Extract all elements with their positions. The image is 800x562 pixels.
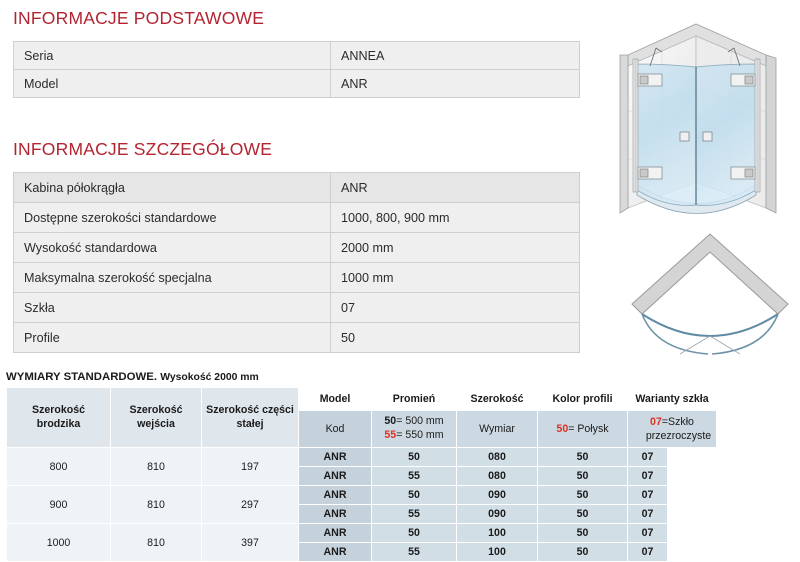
shower-enclosure-3d-icon xyxy=(604,12,794,224)
dim-szerokosc-value: 080 xyxy=(457,448,538,467)
details-row-value: 50 xyxy=(331,323,580,353)
details-row-label: Dostępne szerokości standardowe xyxy=(14,203,331,233)
dim-szklo-value: 07 xyxy=(628,543,668,562)
dim-header-wejscie-l2: wejścia xyxy=(137,418,175,430)
dim-wejscie-value: 810 xyxy=(111,448,202,486)
dim-model-value: ANR xyxy=(299,486,372,505)
plan-walls xyxy=(632,234,788,314)
dim-header-szerokosc: Szerokość xyxy=(457,388,538,411)
basic-row-value: ANR xyxy=(331,70,580,98)
dim-header-stala: Szerokość części stałej xyxy=(202,388,299,448)
dim-code-kolor-code: 50 xyxy=(556,423,568,435)
dim-stala-value: 197 xyxy=(202,448,299,486)
dim-model-value: ANR xyxy=(299,467,372,486)
dim-promien-value: 50 xyxy=(372,524,457,543)
dim-header-brodzik-l1: Szerokość xyxy=(32,404,85,416)
dim-code-glass-code: 07 xyxy=(650,416,662,428)
details-row-label: Profile xyxy=(14,323,331,353)
table-row: Model ANR xyxy=(14,70,580,98)
dim-szerokosc-value: 090 xyxy=(457,486,538,505)
dim-code-kolor-text: = Połysk xyxy=(568,423,608,435)
dim-kolor-value: 50 xyxy=(538,448,628,467)
dim-promien-value: 55 xyxy=(372,505,457,524)
dimensions-caption-bold: WYMIARY STANDARDOWE. xyxy=(6,371,157,383)
basic-info-table: Seria ANNEA Model ANR xyxy=(13,41,580,98)
product-spec-sheet: INFORMACJE PODSTAWOWE Seria ANNEA Model … xyxy=(0,0,800,558)
standard-dimensions-table-wrapper: Szerokość brodzika Szerokość wejścia Sze… xyxy=(6,387,716,562)
details-row-label: Wysokość standardowa xyxy=(14,233,331,263)
dim-header-stala-l1: Szerokość części xyxy=(206,404,294,416)
dim-code-glass-line1: 07=Szkło xyxy=(650,416,694,428)
table-row: Wysokość standardowa 2000 mm xyxy=(14,233,580,263)
dim-spacer-cell xyxy=(668,524,717,543)
dim-model-value: ANR xyxy=(299,524,372,543)
plan-door-swing xyxy=(642,314,778,354)
table-row: Maksymalna szerokość specjalna 1000 mm xyxy=(14,263,580,293)
details-row-value: 1000 mm xyxy=(331,263,580,293)
dim-model-value: ANR xyxy=(299,505,372,524)
dim-model-value: ANR xyxy=(299,448,372,467)
dim-code-glass-text: =Szkło xyxy=(662,416,694,428)
dim-header-promien: Promień xyxy=(372,388,457,411)
dim-promien-value: 50 xyxy=(372,486,457,505)
details-row-label: Kabina półokrągła xyxy=(14,173,331,203)
dim-kolor-value: 50 xyxy=(538,467,628,486)
dim-code-promien: 50= 500 mm 55= 550 mm xyxy=(372,411,457,448)
dim-szklo-value: 07 xyxy=(628,467,668,486)
dim-code-promien-code1: 50 xyxy=(384,415,396,427)
details-row-value: 1000, 800, 900 mm xyxy=(331,203,580,233)
details-row-value: 07 xyxy=(331,293,580,323)
dim-kolor-value: 50 xyxy=(538,543,628,562)
dim-szerokosc-value: 080 xyxy=(457,467,538,486)
table-row: 1000 810 397 ANR 50 100 50 07 xyxy=(7,524,717,543)
dim-stala-value: 397 xyxy=(202,524,299,562)
dim-kolor-value: 50 xyxy=(538,486,628,505)
dim-promien-value: 55 xyxy=(372,467,457,486)
dim-promien-value: 55 xyxy=(372,543,457,562)
dim-kolor-value: 50 xyxy=(538,524,628,543)
dim-header-warianty: Warianty szkła xyxy=(628,388,717,411)
dim-code-promien-text2: = 550 mm xyxy=(396,429,443,441)
table-row: Seria ANNEA xyxy=(14,42,580,70)
details-row-value: ANR xyxy=(331,173,580,203)
dim-wejscie-value: 810 xyxy=(111,486,202,524)
detailed-info-table: Kabina półokrągła ANR Dostępne szerokośc… xyxy=(13,172,580,353)
dim-stala-value: 297 xyxy=(202,486,299,524)
dim-kolor-value: 50 xyxy=(538,505,628,524)
dim-header-kolor: Kolor profili xyxy=(538,388,628,411)
shower-enclosure-plan-icon xyxy=(620,228,800,363)
dim-code-kolor: 50= Połysk xyxy=(538,411,628,448)
dim-code-promien-code2: 55 xyxy=(384,429,396,441)
table-row: Profile 50 xyxy=(14,323,580,353)
dim-code-glass-line2: przezroczyste xyxy=(628,429,716,443)
table-row: 900 810 297 ANR 50 090 50 07 xyxy=(7,486,717,505)
dim-brodzik-value: 800 xyxy=(7,448,111,486)
dim-szerokosc-value: 100 xyxy=(457,543,538,562)
dim-header-row-1: Szerokość brodzika Szerokość wejścia Sze… xyxy=(7,388,717,411)
dim-header-wejscie: Szerokość wejścia xyxy=(111,388,202,448)
basic-row-label: Model xyxy=(14,70,331,98)
plan-glass-arc xyxy=(642,314,778,336)
dim-code-szerokosc: Wymiar xyxy=(457,411,538,448)
dimensions-caption: WYMIARY STANDARDOWE. Wysokość 2000 mm xyxy=(6,371,259,383)
dim-header-brodzik-l2: brodzika xyxy=(37,418,81,430)
dim-spacer-cell xyxy=(668,467,717,486)
dimensions-caption-rest: Wysokość 2000 mm xyxy=(160,372,259,383)
table-row: Dostępne szerokości standardowe 1000, 80… xyxy=(14,203,580,233)
dim-header-model: Model xyxy=(299,388,372,411)
dim-spacer-cell xyxy=(668,448,717,467)
dim-code-label: Kod xyxy=(299,411,372,448)
dim-code-promien-line1: 50= 500 mm xyxy=(372,415,456,429)
dim-header-brodzik: Szerokość brodzika xyxy=(7,388,111,448)
dim-promien-value: 50 xyxy=(372,448,457,467)
dim-szklo-value: 07 xyxy=(628,486,668,505)
dim-szerokosc-value: 100 xyxy=(457,524,538,543)
dim-spacer-cell xyxy=(668,505,717,524)
dim-szerokosc-value: 090 xyxy=(457,505,538,524)
section-title-basic-info: INFORMACJE PODSTAWOWE xyxy=(13,8,264,29)
table-row: Kabina półokrągła ANR xyxy=(14,173,580,203)
dim-code-promien-line2: 55= 550 mm xyxy=(372,429,456,443)
dim-header-wejscie-l1: Szerokość xyxy=(130,404,183,416)
details-row-value: 2000 mm xyxy=(331,233,580,263)
basic-row-label: Seria xyxy=(14,42,331,70)
dim-szklo-value: 07 xyxy=(628,505,668,524)
dim-spacer-cell xyxy=(668,543,717,562)
dim-szklo-value: 07 xyxy=(628,448,668,467)
dim-model-value: ANR xyxy=(299,543,372,562)
table-row: 800 810 197 ANR 50 080 50 07 xyxy=(7,448,717,467)
basic-row-value: ANNEA xyxy=(331,42,580,70)
dim-szklo-value: 07 xyxy=(628,524,668,543)
dim-header-stala-l2: stałej xyxy=(236,418,263,430)
standard-dimensions-table: Szerokość brodzika Szerokość wejścia Sze… xyxy=(6,387,717,562)
details-row-label: Maksymalna szerokość specjalna xyxy=(14,263,331,293)
dim-code-promien-text1: = 500 mm xyxy=(396,415,443,427)
dim-code-glass: 07=Szkło przezroczyste xyxy=(628,411,717,448)
section-title-detailed-info: INFORMACJE SZCZEGÓŁOWE xyxy=(13,139,272,160)
details-row-label: Szkła xyxy=(14,293,331,323)
table-row: Szkła 07 xyxy=(14,293,580,323)
dim-spacer-cell xyxy=(668,486,717,505)
dim-wejscie-value: 810 xyxy=(111,524,202,562)
dim-brodzik-value: 900 xyxy=(7,486,111,524)
dim-brodzik-value: 1000 xyxy=(7,524,111,562)
